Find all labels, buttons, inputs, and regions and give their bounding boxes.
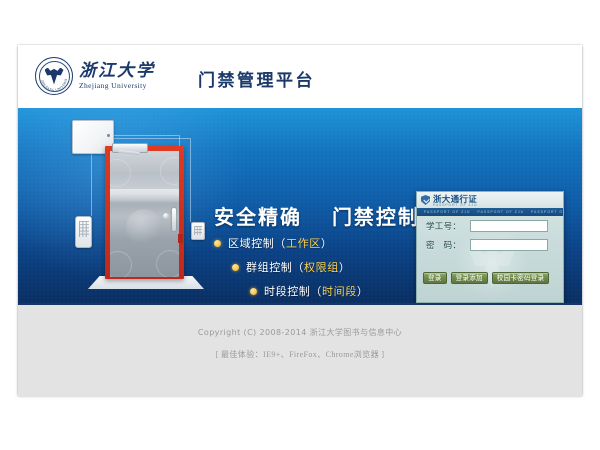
campus-card-login-button[interactable]: 校园卡密码登录 [492,272,550,284]
feature-area-text: 区域控制（ [228,237,286,250]
field-row-userid: 学工号： [417,220,563,232]
userid-input[interactable] [470,220,548,232]
feature-area-tail: ） [321,237,333,250]
keypad-reader-icon [75,216,92,248]
login-panel-header: 浙大通行证 PASSPORT OF ZJU [417,192,563,208]
shield-icon [421,195,430,205]
feature-time-tail: ） [357,285,369,298]
feature-time-highlight: 时间段 [322,285,357,298]
login-form: 学工号： 密 码： [417,220,563,258]
bullet-dot-icon [250,288,257,295]
door-latch [178,234,183,243]
stripe-text-3: PASSPORT OF ZJU [524,210,563,214]
headline-part-2: 门禁控制 [332,205,420,229]
svg-text:ZHEJIANG UNIVERSITY: ZHEJIANG UNIVERSITY [36,58,68,92]
feature-group-tail: ） [339,261,351,274]
feature-list: 区域控制（工作区） 群组控制（权限组） 时段控制（时间段） [214,235,368,303]
password-input[interactable] [470,239,548,251]
browser-note: [ 最佳体验：IE9+、FireFox、Chrome浏览器 ] [18,349,582,360]
feature-label-group: 群组控制（权限组） [246,259,350,275]
site-footer: Copyright (C) 2008-2014 浙江大学图书与信息中心 [ 最佳… [18,303,582,397]
university-name-cn: 浙江大学 [79,62,155,79]
access-control-illustration [52,116,222,296]
banner-headline: 安全精确 门禁控制 [214,201,420,230]
door-knob-icon [163,213,169,219]
feature-item-time: 时段控制（时间段） [250,283,368,299]
site-header: ZHEJIANG UNIVERSITY 浙江大学 Zhejiang Univer… [18,45,582,109]
door-decor-1 [110,159,131,187]
login-panel: 浙大通行证 PASSPORT OF ZJU PASSPORT OF ZJU PA… [416,191,564,303]
door-highlight [126,209,162,245]
field-row-password: 密 码： [417,239,563,251]
door-decor-2 [160,157,179,185]
door-decor-3 [110,251,132,277]
login-button[interactable]: 登录 [423,272,447,284]
keypad-keys [79,221,89,237]
passport-stripe: PASSPORT OF ZJU PASSPORT OF ZJU PASSPORT… [417,208,563,216]
headline-part-1: 安全精确 [214,205,302,229]
feature-item-area: 区域控制（工作区） [214,235,368,251]
seal-arc-text: ZHEJIANG UNIVERSITY [36,58,72,94]
stripe-text-1: PASSPORT OF ZJU [417,210,471,214]
login-add-button[interactable]: 登录添加 [451,272,488,284]
page-root: ZHEJIANG UNIVERSITY 浙江大学 Zhejiang Univer… [0,0,600,450]
university-logo[interactable]: ZHEJIANG UNIVERSITY 浙江大学 Zhejiang Univer… [35,57,155,95]
door-handle-icon [172,208,176,231]
feature-group-text: 群组控制（ [246,261,304,274]
feature-group-highlight: 权限组 [304,261,339,274]
seal-arc-label: ZHEJIANG UNIVERSITY [36,58,68,92]
university-name-en: Zhejiang University [79,82,155,90]
site-card: ZHEJIANG UNIVERSITY 浙江大学 Zhejiang Univer… [18,45,582,395]
university-name-block: 浙江大学 Zhejiang University [79,62,155,90]
userid-label: 学工号： [426,220,470,232]
wire-left [91,152,92,216]
wire-right-2 [190,138,191,222]
feature-label-time: 时段控制（时间段） [264,283,368,299]
feature-label-area: 区域控制（工作区） [228,235,332,251]
door-decor-4 [156,250,179,277]
page-title: 门禁管理平台 [198,66,315,91]
card-reader-keys [194,226,202,235]
stripe-text-2: PASSPORT OF ZJU [471,210,525,214]
login-title-en: PASSPORT OF ZJU [433,203,477,207]
feature-time-text: 时段控制（ [264,285,322,298]
feature-area-highlight: 工作区 [286,237,321,250]
feature-item-group: 群组控制（权限组） [232,259,368,275]
door-shine [110,189,179,202]
bullet-dot-icon [232,264,239,271]
wire-top [111,135,179,136]
login-button-row: 登录 登录添加 校园卡密码登录 [417,272,563,284]
bullet-dot-icon [214,240,221,247]
card-reader-icon [191,222,205,240]
password-label: 密 码： [426,239,470,251]
university-seal-icon: ZHEJIANG UNIVERSITY [35,57,73,95]
copyright-text: Copyright (C) 2008-2014 浙江大学图书与信息中心 [18,327,582,338]
hero-banner: 安全精确 门禁控制 区域控制（工作区） 群组控制（权限组） 时段控制（时间段） [18,108,582,303]
